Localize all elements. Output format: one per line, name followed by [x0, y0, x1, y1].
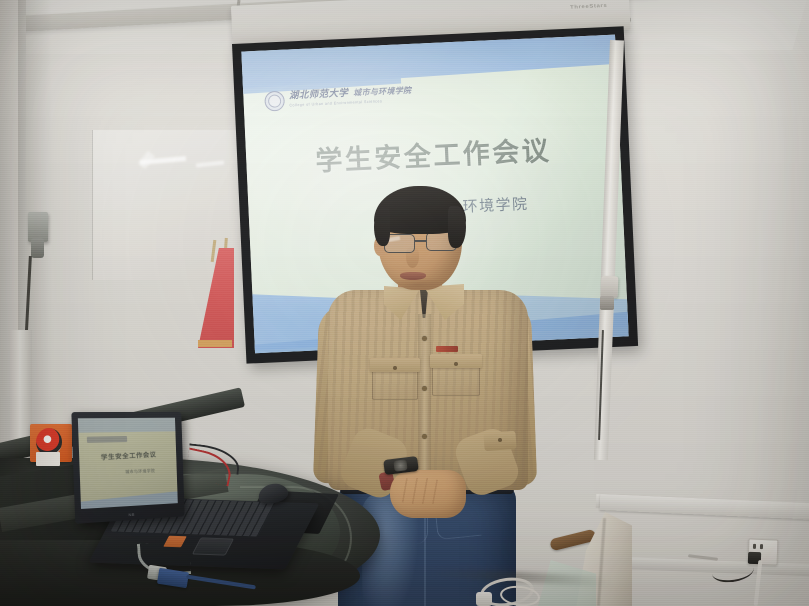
shirt-button: [422, 336, 427, 341]
chin-shadow: [390, 278, 446, 292]
cuff-button: [498, 438, 502, 442]
wall-device-knob[interactable]: [31, 238, 44, 258]
laptop-lid: 学生安全工作会议 城市与环境学院 NB: [71, 412, 184, 524]
presenter-hair-side: [374, 208, 390, 246]
conduit-fitting-cap: [600, 296, 614, 310]
presenter-hair-side: [448, 206, 466, 248]
socket-holes-icon: [752, 544, 765, 549]
shirt-button: [422, 386, 427, 391]
university-seal-icon: [264, 90, 285, 111]
laptop-slide-top-band: [78, 418, 176, 433]
laptop-slide-subtitle: 城市与环境学院: [80, 467, 177, 477]
laptop-slide-title: 学生安全工作会议: [79, 447, 176, 462]
alarm-label-tag: [36, 452, 60, 466]
slide-logo-texts: 湖北师范大学 城市与环境学院 College of Urban and Envi…: [289, 87, 412, 108]
conduit-fitting: [601, 276, 619, 299]
laptop-slide-logo: [87, 436, 127, 443]
slide-title: 学生安全工作会议: [245, 125, 620, 181]
glasses-bridge: [415, 240, 426, 242]
wristwatch-face: [393, 459, 407, 472]
laptop-slide-bottom-band: [81, 491, 178, 509]
laptop-slide: 学生安全工作会议 城市与环境学院: [78, 418, 178, 509]
shirt-button: [422, 434, 427, 439]
banner-base: [198, 340, 232, 347]
shirt-brand-logo: [436, 346, 458, 352]
presenter-mouth: [400, 272, 426, 280]
presenter-fingers: [396, 478, 444, 504]
laptop-bezel-brand: NB: [128, 512, 135, 517]
pocket-button: [393, 366, 397, 370]
slide-logo-college-name: 城市与环境学院: [353, 87, 411, 98]
floor-plug: [476, 592, 492, 606]
classroom-photo: ThreeStars 湖北师范大学 城市与环境学院 College of Urb…: [0, 0, 809, 606]
laptop-display[interactable]: 学生安全工作会议 城市与环境学院: [78, 418, 178, 509]
pocket-button: [454, 362, 458, 366]
screen-brand-label: ThreeStars: [570, 3, 608, 10]
